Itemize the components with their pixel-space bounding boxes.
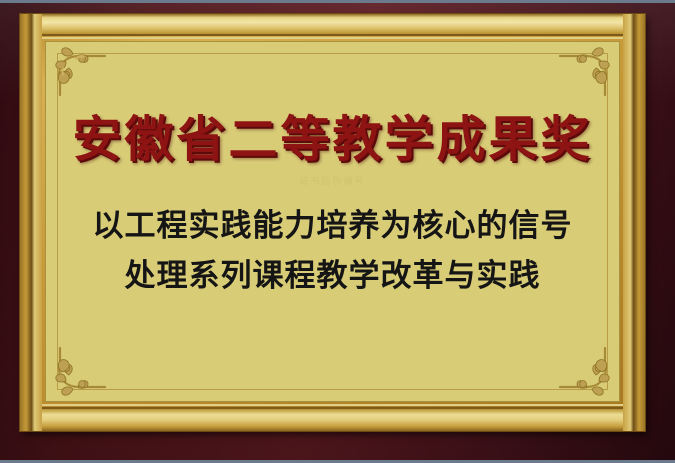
- subtitle-line-2: 处理系列课程教学改革与实践: [93, 251, 573, 301]
- plaque-content: 安徽省二等教学成果奖 证书防伪编号 以工程实践能力培养为核心的信号 处理系列课程…: [45, 41, 620, 402]
- watermark-text: 证书防伪编号: [299, 174, 365, 187]
- award-subtitle: 以工程实践能力培养为核心的信号 处理系列课程教学改革与实践: [93, 201, 573, 301]
- gold-bevel-bottom-dark-line: [20, 407, 645, 409]
- gold-bevel-top-light-line: [20, 37, 645, 39]
- gold-bevel-left: [20, 14, 42, 431]
- inner-field: 安徽省二等教学成果奖 证书防伪编号 以工程实践能力培养为核心的信号 处理系列课程…: [45, 41, 620, 402]
- gold-bevel-top: [20, 14, 645, 34]
- top-edge-strip: [0, 0, 675, 3]
- subtitle-line-1: 以工程实践能力培养为核心的信号: [93, 201, 573, 251]
- award-title: 安徽省二等教学成果奖: [72, 115, 592, 164]
- gold-frame: 安徽省二等教学成果奖 证书防伪编号 以工程实践能力培养为核心的信号 处理系列课程…: [20, 14, 645, 431]
- gold-bevel-bottom-light-line: [20, 404, 645, 406]
- gold-bevel-right: [623, 14, 645, 431]
- award-plaque: 安徽省二等教学成果奖 证书防伪编号 以工程实践能力培养为核心的信号 处理系列课程…: [0, 0, 675, 463]
- gold-bevel-top-dark-line: [20, 34, 645, 36]
- gold-bevel-bottom: [20, 409, 645, 431]
